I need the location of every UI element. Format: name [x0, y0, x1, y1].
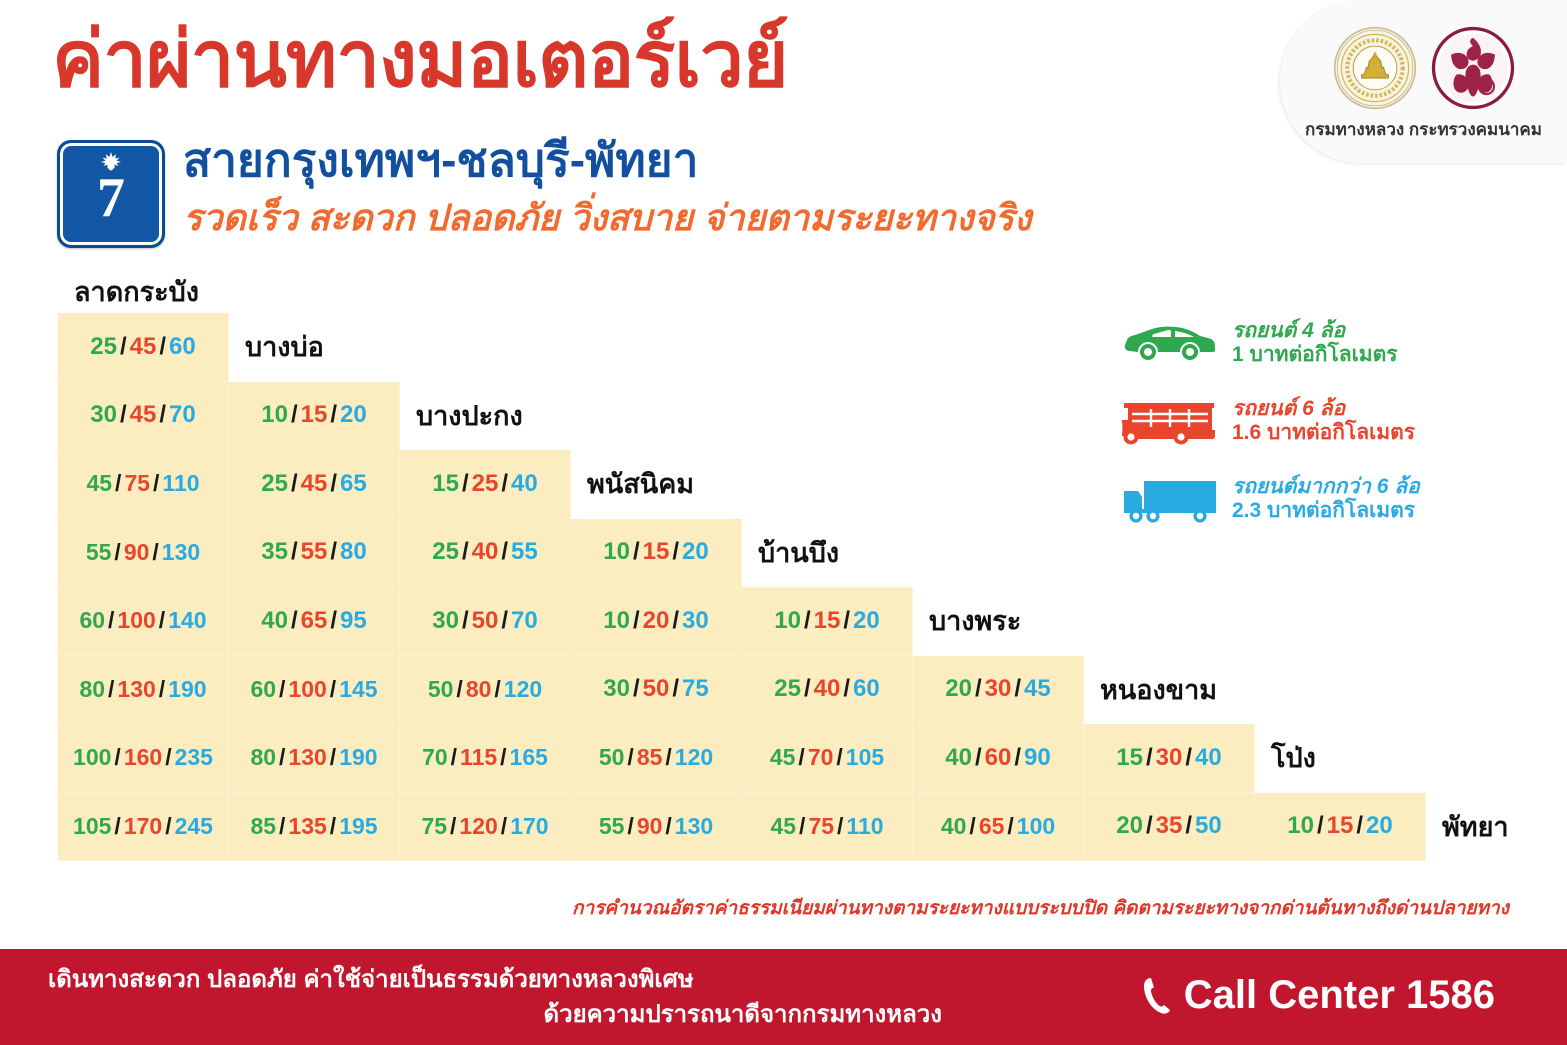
value-separator: /: [459, 470, 472, 498]
toll-value: 35: [1156, 812, 1183, 840]
footer-slogan-line2: ด้วยความปรารถนาดีจากกรมทางหลวง: [48, 998, 948, 1033]
value-separator: /: [1353, 812, 1366, 840]
toll-value: 30: [90, 401, 117, 429]
toll-value: 15: [814, 607, 841, 635]
legend-type: รถยนต์ 4 ล้อ: [1232, 319, 1398, 343]
toll-value: 10: [774, 607, 801, 635]
toll-value: 15: [1327, 812, 1354, 840]
toll-value: 60: [169, 333, 196, 361]
toll-value: 50: [599, 744, 625, 771]
toll-cell: 20/35/50: [1084, 793, 1255, 862]
toll-value: 65: [340, 470, 367, 498]
toll-cell: 45/75/110: [742, 793, 913, 862]
value-separator: /: [111, 744, 123, 771]
toll-cell: 75/120/170: [400, 793, 571, 862]
value-separator: /: [669, 538, 682, 566]
value-separator: /: [801, 607, 814, 635]
toll-value: 85: [250, 813, 276, 840]
call-center[interactable]: Call Center 1586: [1140, 973, 1495, 1018]
toll-cell: 85/135/195: [229, 793, 400, 862]
toll-value: 105: [846, 744, 884, 771]
toll-value: 130: [288, 744, 326, 771]
toll-cell: 100/160/235: [58, 724, 229, 793]
toll-value: 40: [945, 744, 972, 772]
value-separator: /: [459, 607, 472, 635]
legend-rate: 1.6 บาทต่อกิโลเมตร: [1232, 421, 1415, 445]
toll-value: 50: [1195, 812, 1222, 840]
agency-logo-block: กรมทางหลวง กระทรวงคมนาคม: [1280, 0, 1567, 163]
toll-cell: 105/170/245: [58, 793, 229, 862]
value-separator: /: [156, 676, 168, 703]
value-separator: /: [162, 744, 174, 771]
legend-text-car: รถยนต์ 4 ล้อ 1 บาทต่อกิโลเมตร: [1226, 319, 1398, 366]
station-label: โป่ง: [1271, 736, 1316, 779]
toll-cell: 40/60/90: [913, 724, 1084, 793]
toll-cell: 45/70/105: [742, 724, 913, 793]
toll-cell: 70/115/165: [400, 724, 571, 793]
toll-value: 100: [288, 676, 326, 703]
station-label: บ้านบึง: [758, 531, 839, 574]
toll-cell: 10/15/20: [742, 587, 913, 656]
toll-cell: 25/45/65: [229, 450, 400, 519]
value-separator: /: [327, 813, 339, 840]
route-shield-7: 7: [57, 140, 165, 248]
toll-value: 80: [250, 744, 276, 771]
value-separator: /: [156, 333, 169, 361]
phone-icon: [1140, 976, 1172, 1016]
toll-cell: 80/130/190: [58, 656, 229, 725]
value-separator: /: [105, 676, 117, 703]
ministry-of-transport-seal-icon: [1431, 26, 1515, 110]
toll-value: 30: [603, 675, 630, 703]
value-separator: /: [497, 744, 509, 771]
station-label: หนองขาม: [1100, 668, 1217, 711]
toll-cell: 15/30/40: [1084, 724, 1255, 793]
value-separator: /: [327, 401, 340, 429]
toll-cell: 60/100/145: [229, 656, 400, 725]
toll-value: 120: [459, 813, 497, 840]
value-separator: /: [276, 813, 288, 840]
toll-cell: 80/130/190: [229, 724, 400, 793]
value-separator: /: [498, 470, 511, 498]
toll-cell: 35/55/80: [229, 519, 400, 588]
toll-value: 15: [301, 401, 328, 429]
value-separator: /: [156, 607, 168, 634]
value-separator: /: [1011, 675, 1024, 703]
toll-value: 45: [770, 744, 796, 771]
toll-value: 20: [853, 607, 880, 635]
legend-row-car: รถยนต์ 4 ล้อ 1 บาทต่อกิโลเมตร: [1122, 312, 1542, 374]
toll-value: 70: [422, 744, 448, 771]
toll-value: 35: [261, 538, 288, 566]
value-separator: /: [1143, 812, 1156, 840]
toll-cell: 25/40/55: [400, 519, 571, 588]
value-separator: /: [966, 813, 978, 840]
value-separator: /: [112, 470, 124, 497]
toll-value: 110: [162, 470, 199, 497]
toll-value: 65: [979, 813, 1005, 840]
value-separator: /: [624, 744, 636, 771]
toll-cell: 50/85/120: [571, 724, 742, 793]
toll-value: 50: [428, 676, 454, 703]
toll-value: 90: [637, 813, 663, 840]
toll-value: 10: [1287, 812, 1314, 840]
value-separator: /: [833, 744, 845, 771]
toll-value: 100: [1017, 813, 1055, 840]
toll-value: 70: [808, 744, 834, 771]
value-separator: /: [327, 607, 340, 635]
footer-bar: เดินทางสะดวก ปลอดภัย ค่าใช้จ่ายเป็นธรรมด…: [0, 949, 1567, 1045]
toll-cell: 10/15/20: [571, 519, 742, 588]
station-label: บางบ่อ: [245, 325, 324, 368]
toll-value: 10: [603, 607, 630, 635]
legend-row-large-truck: รถยนต์มากกว่า 6 ล้อ 2.3 บาทต่อกิโลเมตร: [1122, 468, 1542, 530]
value-separator: /: [1011, 744, 1024, 772]
toll-value: 130: [117, 676, 155, 703]
value-separator: /: [117, 333, 130, 361]
toll-value: 10: [261, 401, 288, 429]
toll-value: 75: [124, 470, 150, 497]
toll-value: 130: [675, 813, 713, 840]
toll-value: 60: [250, 676, 276, 703]
value-separator: /: [662, 813, 674, 840]
department-of-highways-seal-icon: [1333, 26, 1417, 110]
toll-value: 10: [603, 538, 630, 566]
toll-value: 15: [1116, 744, 1143, 772]
value-separator: /: [453, 676, 465, 703]
toll-value: 55: [301, 538, 328, 566]
toll-value: 100: [117, 607, 155, 634]
footer-slogan-line1: เดินทางสะดวก ปลอดภัย ค่าใช้จ่ายเป็นธรรมด…: [48, 963, 948, 998]
call-center-label: Call Center 1586: [1184, 973, 1495, 1018]
toll-cell: 30/50/75: [571, 656, 742, 725]
large-truck-icon: [1122, 475, 1218, 523]
infographic-page: ค่าผ่านทางมอเตอร์เวย์ 7 สายกรุงเทพฯ-ชลบุ…: [0, 0, 1567, 1045]
toll-value: 40: [472, 538, 499, 566]
value-separator: /: [327, 470, 340, 498]
toll-value: 135: [288, 813, 326, 840]
toll-value: 55: [511, 538, 538, 566]
toll-value: 80: [340, 538, 367, 566]
value-separator: /: [111, 539, 123, 566]
toll-value: 170: [510, 813, 548, 840]
value-separator: /: [111, 813, 123, 840]
toll-value: 20: [340, 401, 367, 429]
value-separator: /: [796, 813, 808, 840]
value-separator: /: [669, 675, 682, 703]
toll-value: 15: [643, 538, 670, 566]
value-separator: /: [801, 675, 814, 703]
route-number: 7: [97, 173, 125, 225]
toll-cell: 10/20/30: [571, 587, 742, 656]
value-separator: /: [630, 607, 643, 635]
legend-type: รถยนต์มากกว่า 6 ล้อ: [1232, 475, 1420, 499]
toll-value: 40: [261, 607, 288, 635]
legend-text-large-truck: รถยนต์มากกว่า 6 ล้อ 2.3 บาทต่อกิโลเมตร: [1226, 475, 1420, 522]
value-separator: /: [1004, 813, 1016, 840]
value-separator: /: [105, 607, 117, 634]
toll-cell: 40/65/100: [913, 793, 1084, 862]
toll-cell: 55/90/130: [58, 519, 229, 588]
toll-value: 25: [261, 470, 288, 498]
toll-value: 130: [162, 539, 200, 566]
value-separator: /: [840, 607, 853, 635]
value-separator: /: [150, 470, 162, 497]
toll-value: 25: [90, 333, 117, 361]
toll-value: 70: [511, 607, 538, 635]
toll-value: 45: [86, 470, 112, 497]
toll-cell: 10/15/20: [1255, 793, 1426, 862]
toll-value: 165: [510, 744, 548, 771]
toll-cell: 45/75/110: [58, 450, 229, 519]
toll-value: 30: [432, 607, 459, 635]
toll-cell: 15/25/40: [400, 450, 571, 519]
value-separator: /: [149, 539, 161, 566]
value-separator: /: [630, 675, 643, 703]
toll-cell: 30/50/70: [400, 587, 571, 656]
toll-cell: 20/30/45: [913, 656, 1084, 725]
toll-value: 50: [472, 607, 499, 635]
toll-value: 65: [301, 607, 328, 635]
toll-value: 145: [339, 676, 377, 703]
value-separator: /: [498, 538, 511, 566]
toll-value: 85: [637, 744, 663, 771]
toll-value: 110: [846, 813, 883, 840]
toll-value: 235: [175, 744, 213, 771]
toll-value: 75: [682, 675, 709, 703]
toll-value: 20: [1366, 812, 1393, 840]
toll-value: 140: [168, 607, 206, 634]
value-separator: /: [448, 744, 460, 771]
toll-value: 20: [643, 607, 670, 635]
toll-value: 120: [504, 676, 542, 703]
route-name: สายกรุงเทพฯ-ชลบุรี-พัทยา: [183, 136, 698, 184]
value-separator: /: [1314, 812, 1327, 840]
station-label-origin: ลาดกระบัง: [74, 270, 199, 313]
tagline: รวดเร็ว สะดวก ปลอดภัย วิ่งสบาย จ่ายตามระ…: [183, 198, 1032, 238]
value-separator: /: [276, 744, 288, 771]
station-label: พัทยา: [1442, 805, 1509, 848]
value-separator: /: [156, 401, 169, 429]
footer-slogan: เดินทางสะดวก ปลอดภัย ค่าใช้จ่ายเป็นธรรมด…: [48, 963, 948, 1033]
station-label: บางปะกง: [416, 394, 523, 437]
value-separator: /: [662, 744, 674, 771]
toll-cell: 50/80/120: [400, 656, 571, 725]
value-separator: /: [117, 401, 130, 429]
legend-row-six-wheel: รถยนต์ 6 ล้อ 1.6 บาทต่อกิโลเมตร: [1122, 390, 1542, 452]
toll-cell: 30/45/70: [58, 382, 229, 451]
station-label: พนัสนิคม: [587, 462, 694, 505]
toll-value: 60: [985, 744, 1012, 772]
toll-value: 40: [941, 813, 967, 840]
value-separator: /: [1182, 812, 1195, 840]
toll-value: 90: [124, 539, 150, 566]
value-separator: /: [972, 744, 985, 772]
value-separator: /: [972, 675, 985, 703]
toll-value: 60: [853, 675, 880, 703]
value-separator: /: [669, 607, 682, 635]
page-title: ค่าผ่านทางมอเตอร์เวย์: [52, 20, 788, 98]
value-separator: /: [288, 401, 301, 429]
toll-value: 100: [73, 744, 111, 771]
toll-value: 90: [1024, 744, 1051, 772]
toll-value: 190: [168, 676, 206, 703]
toll-cell: 55/90/130: [571, 793, 742, 862]
toll-value: 45: [1024, 675, 1051, 703]
value-separator: /: [288, 470, 301, 498]
value-separator: /: [834, 813, 846, 840]
toll-value: 20: [945, 675, 972, 703]
agency-name: กรมทางหลวง กระทรวงคมนาคม: [1305, 116, 1542, 143]
value-separator: /: [630, 538, 643, 566]
toll-value: 60: [79, 607, 105, 634]
toll-value: 55: [86, 539, 112, 566]
value-separator: /: [459, 538, 472, 566]
toll-value: 20: [682, 538, 709, 566]
station-label: บางพระ: [929, 599, 1021, 642]
car-icon: [1122, 321, 1218, 365]
toll-value: 25: [432, 538, 459, 566]
six-wheel-truck-icon: [1122, 396, 1218, 446]
legend-type: รถยนต์ 6 ล้อ: [1232, 397, 1415, 421]
toll-value: 190: [339, 744, 377, 771]
toll-value: 245: [175, 813, 213, 840]
value-separator: /: [1143, 744, 1156, 772]
toll-value: 40: [814, 675, 841, 703]
toll-cell: 25/45/60: [58, 313, 229, 382]
legend-rate: 2.3 บาทต่อกิโลเมตร: [1232, 499, 1420, 523]
toll-cell: 40/65/95: [229, 587, 400, 656]
value-separator: /: [1182, 744, 1195, 772]
toll-value: 45: [301, 470, 328, 498]
toll-cell: 25/40/60: [742, 656, 913, 725]
value-separator: /: [162, 813, 174, 840]
toll-value: 160: [124, 744, 162, 771]
toll-value: 30: [1156, 744, 1183, 772]
toll-cell: 60/100/140: [58, 587, 229, 656]
toll-value: 30: [985, 675, 1012, 703]
value-separator: /: [795, 744, 807, 771]
toll-value: 170: [124, 813, 162, 840]
toll-value: 40: [1195, 744, 1222, 772]
value-separator: /: [491, 676, 503, 703]
value-separator: /: [498, 813, 510, 840]
value-separator: /: [498, 607, 511, 635]
toll-value: 50: [643, 675, 670, 703]
six-wheel-truck-icon-wrap: [1122, 396, 1226, 446]
value-separator: /: [288, 607, 301, 635]
car-icon-wrap: [1122, 321, 1226, 365]
value-separator: /: [327, 538, 340, 566]
toll-value: 75: [421, 813, 447, 840]
toll-value: 25: [774, 675, 801, 703]
toll-value: 25: [472, 470, 499, 498]
toll-value: 80: [466, 676, 492, 703]
value-separator: /: [447, 813, 459, 840]
toll-value: 95: [340, 607, 367, 635]
toll-value: 45: [130, 401, 157, 429]
value-separator: /: [276, 676, 288, 703]
toll-value: 55: [599, 813, 625, 840]
toll-value: 40: [511, 470, 538, 498]
toll-value: 115: [460, 744, 497, 771]
toll-value: 70: [169, 401, 196, 429]
large-truck-icon-wrap: [1122, 475, 1226, 523]
toll-value: 20: [1116, 812, 1143, 840]
toll-cell: 10/15/20: [229, 382, 400, 451]
value-separator: /: [327, 744, 339, 771]
toll-value: 45: [130, 333, 157, 361]
toll-value: 120: [675, 744, 713, 771]
toll-value: 15: [432, 470, 459, 498]
value-separator: /: [327, 676, 339, 703]
toll-value: 195: [339, 813, 377, 840]
value-separator: /: [288, 538, 301, 566]
value-separator: /: [624, 813, 636, 840]
toll-value: 75: [808, 813, 834, 840]
legend-text-six-wheel: รถยนต์ 6 ล้อ 1.6 บาทต่อกิโลเมตร: [1226, 397, 1415, 444]
vehicle-legend: รถยนต์ 4 ล้อ 1 บาทต่อกิโลเมตร: [1122, 312, 1542, 546]
legend-rate: 1 บาทต่อกิโลเมตร: [1232, 343, 1398, 367]
value-separator: /: [840, 675, 853, 703]
seal-row: [1333, 26, 1515, 110]
toll-value: 45: [770, 813, 796, 840]
matrix-note: การคำนวณอัตราค่าธรรมเนียมผ่านทางตามระยะท…: [572, 893, 1509, 923]
toll-value: 80: [79, 676, 105, 703]
toll-value: 30: [682, 607, 709, 635]
toll-value: 105: [73, 813, 111, 840]
